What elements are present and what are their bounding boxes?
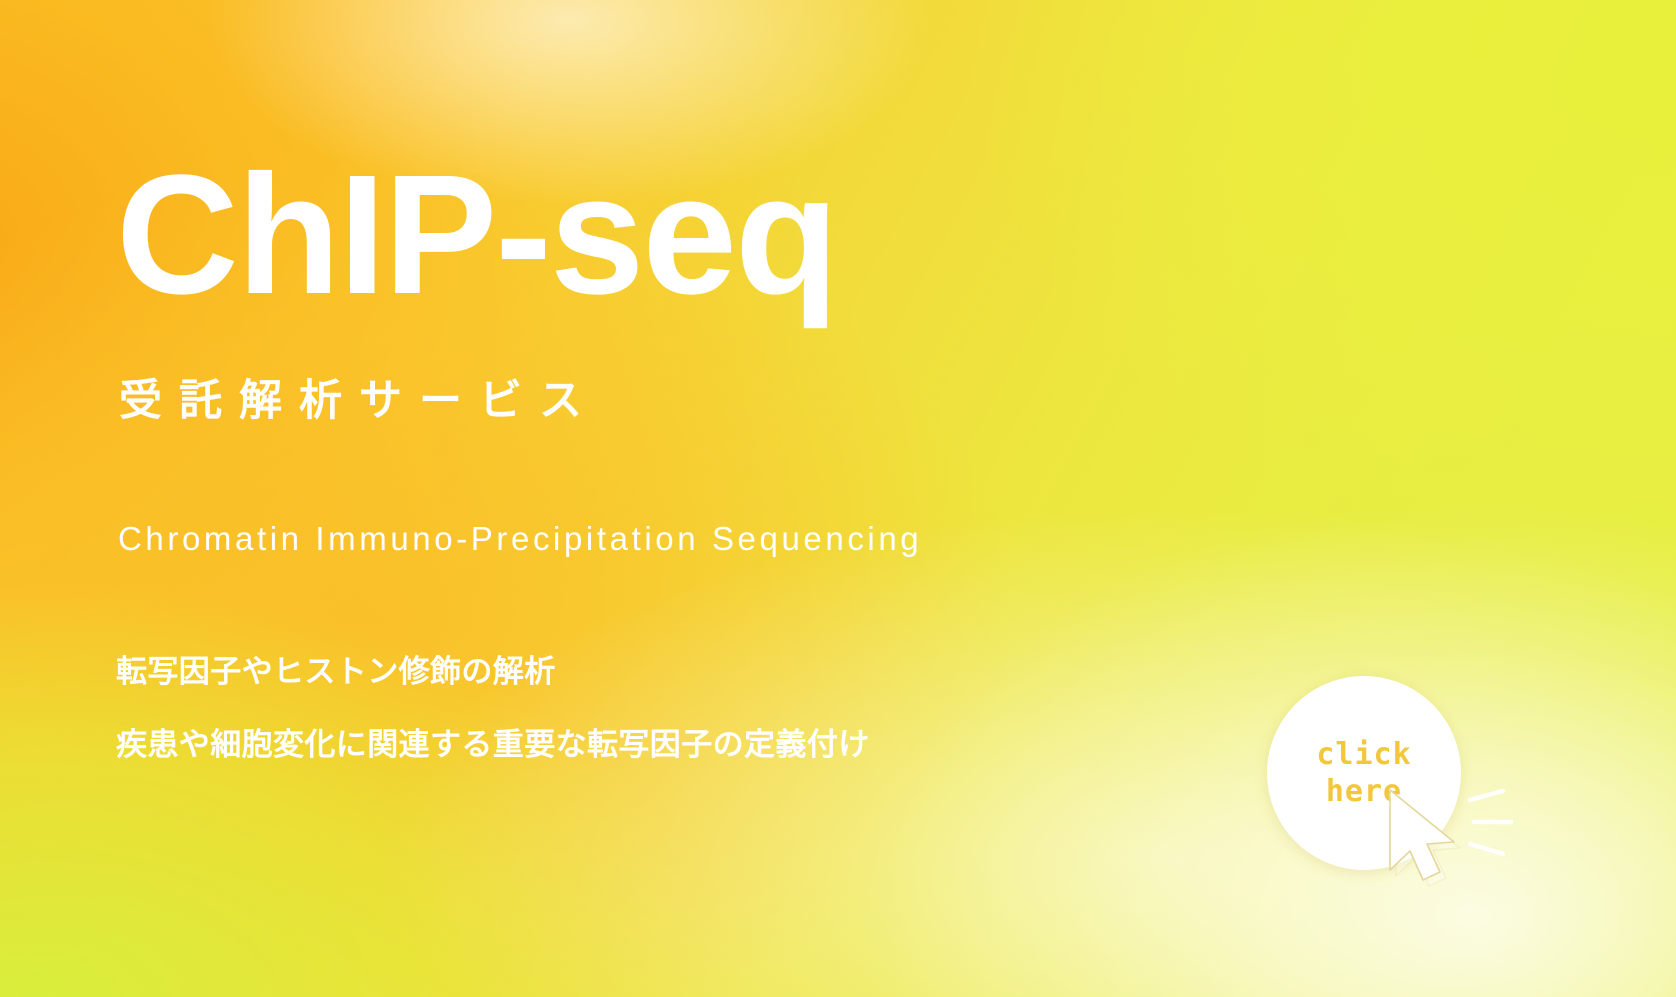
page-title: ChIP-seq <box>116 150 837 320</box>
list-item: 疾患や細胞変化に関連する重要な転写因子の定義付け <box>116 729 870 760</box>
click-here-button[interactable]: click here <box>1267 676 1461 870</box>
hero-content: ChIP-seq 受託解析サービス Chromatin Immuno-Preci… <box>116 0 1216 997</box>
click-here-label: click here <box>1316 736 1411 811</box>
cursor-motion-lines-icon <box>1470 791 1511 854</box>
subtitle-english: Chromatin Immuno-Precipitation Sequencin… <box>118 518 922 561</box>
chip-seq-hero-banner: ChIP-seq 受託解析サービス Chromatin Immuno-Preci… <box>0 0 1676 997</box>
list-item: 転写因子やヒストン修飾の解析 <box>116 656 870 687</box>
feature-list: 転写因子やヒストン修飾の解析 疾患や細胞変化に関連する重要な転写因子の定義付け <box>116 656 870 760</box>
subtitle-japanese: 受託解析サービス <box>119 376 599 428</box>
